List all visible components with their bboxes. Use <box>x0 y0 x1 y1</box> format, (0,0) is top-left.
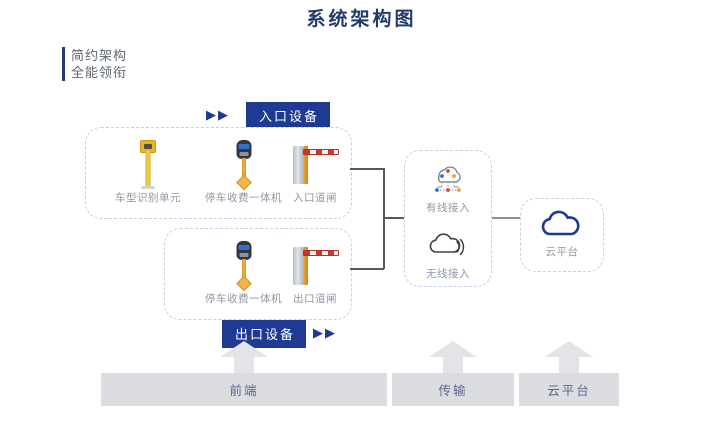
tagline: 简约架构 全能领衔 <box>62 47 127 81</box>
transmission-wireless[interactable]: 无线接入 <box>405 229 491 281</box>
wired-cloud-network-icon <box>405 163 491 197</box>
up-arrow-front-icon <box>220 341 268 373</box>
triangle-right-icon: ▶ <box>206 108 216 121</box>
triangle-right-icon: ▶ <box>313 326 323 339</box>
vehicle-recognition-pole-icon <box>98 140 198 188</box>
connector-exit-horizontal <box>350 268 384 270</box>
tagline-line-2: 全能领衔 <box>71 64 127 81</box>
wireless-cloud-wifi-icon <box>405 229 491 263</box>
barrier-gate-icon <box>279 241 351 289</box>
barrier-gate-icon <box>279 140 351 188</box>
layer-bar-front-end: 前端 <box>101 373 387 406</box>
device-vehicle-recognition[interactable]: 车型识别单元 <box>98 140 198 205</box>
layer-bar-cloud-platform: 云平台 <box>519 373 619 406</box>
entrance-equipment-badge: 入口设备 <box>246 102 330 130</box>
entrance-equipment-group: 车型识别单元 停车收费一体机 入口道闸 <box>85 127 352 219</box>
cloud-outline-icon <box>521 209 603 241</box>
cloud-platform-label: 云平台 <box>521 244 603 259</box>
transmission-group: 有线接入 无线接入 <box>404 150 492 287</box>
exit-arrows-icon: ▶▶ <box>313 326 335 339</box>
connector-vertical-trunk <box>383 168 385 269</box>
transmission-label: 无线接入 <box>405 266 491 281</box>
device-label: 入口道闸 <box>279 190 351 205</box>
up-arrow-transmission-icon <box>429 341 477 373</box>
architecture-diagram: 系统架构图 简约架构 全能领衔 ▶▶ 入口设备 车型识别单元 停车收费一体机 入… <box>0 0 723 439</box>
tagline-line-1: 简约架构 <box>71 47 127 64</box>
device-label: 出口道闸 <box>279 291 351 306</box>
layer-bar-transmission: 传输 <box>392 373 514 406</box>
transmission-wired[interactable]: 有线接入 <box>405 163 491 215</box>
cloud-platform-cell: 云平台 <box>521 209 603 259</box>
triangle-right-icon: ▶ <box>325 326 335 339</box>
entrance-arrows-icon: ▶▶ <box>206 108 228 121</box>
device-exit-barrier-gate[interactable]: 出口道闸 <box>279 241 351 306</box>
page-title: 系统架构图 <box>0 4 723 31</box>
device-entrance-barrier-gate[interactable]: 入口道闸 <box>279 140 351 205</box>
exit-equipment-group: 停车收费一体机 出口道闸 <box>164 228 352 320</box>
connector-trunk-to-transmission <box>383 217 405 219</box>
transmission-label: 有线接入 <box>405 200 491 215</box>
connector-entrance-horizontal <box>350 168 384 170</box>
connector-transmission-to-cloud <box>489 217 521 219</box>
device-label: 车型识别单元 <box>98 190 198 205</box>
up-arrow-cloud-icon <box>545 341 593 373</box>
triangle-right-icon: ▶ <box>218 108 228 121</box>
cloud-platform-group[interactable]: 云平台 <box>520 198 604 272</box>
